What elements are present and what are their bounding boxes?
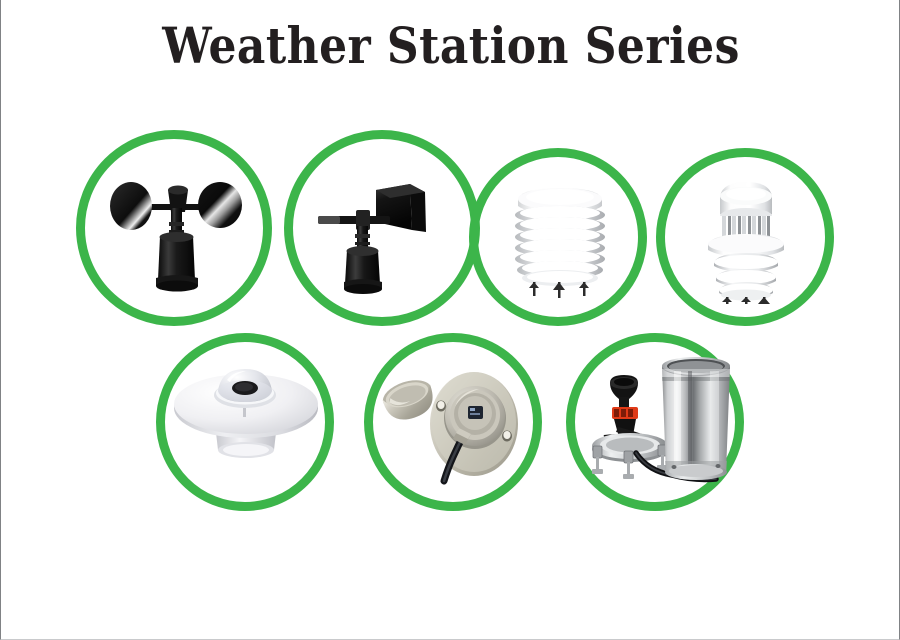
product-circle-pyranometer[interactable] bbox=[156, 333, 334, 511]
product-circle-ultrasonic-weather-sensor[interactable] bbox=[656, 148, 834, 326]
product-circle-wind-speed-sensor[interactable] bbox=[76, 130, 272, 326]
poster-canvas: Weather Station Series bbox=[0, 0, 900, 640]
page-title: Weather Station Series bbox=[55, 16, 847, 75]
product-circle-radiation-shield[interactable] bbox=[469, 148, 647, 326]
product-circle-rain-gauge[interactable] bbox=[566, 333, 744, 511]
product-circle-wind-direction-sensor[interactable] bbox=[284, 130, 480, 326]
product-circle-evaporation-sensor[interactable] bbox=[364, 333, 542, 511]
